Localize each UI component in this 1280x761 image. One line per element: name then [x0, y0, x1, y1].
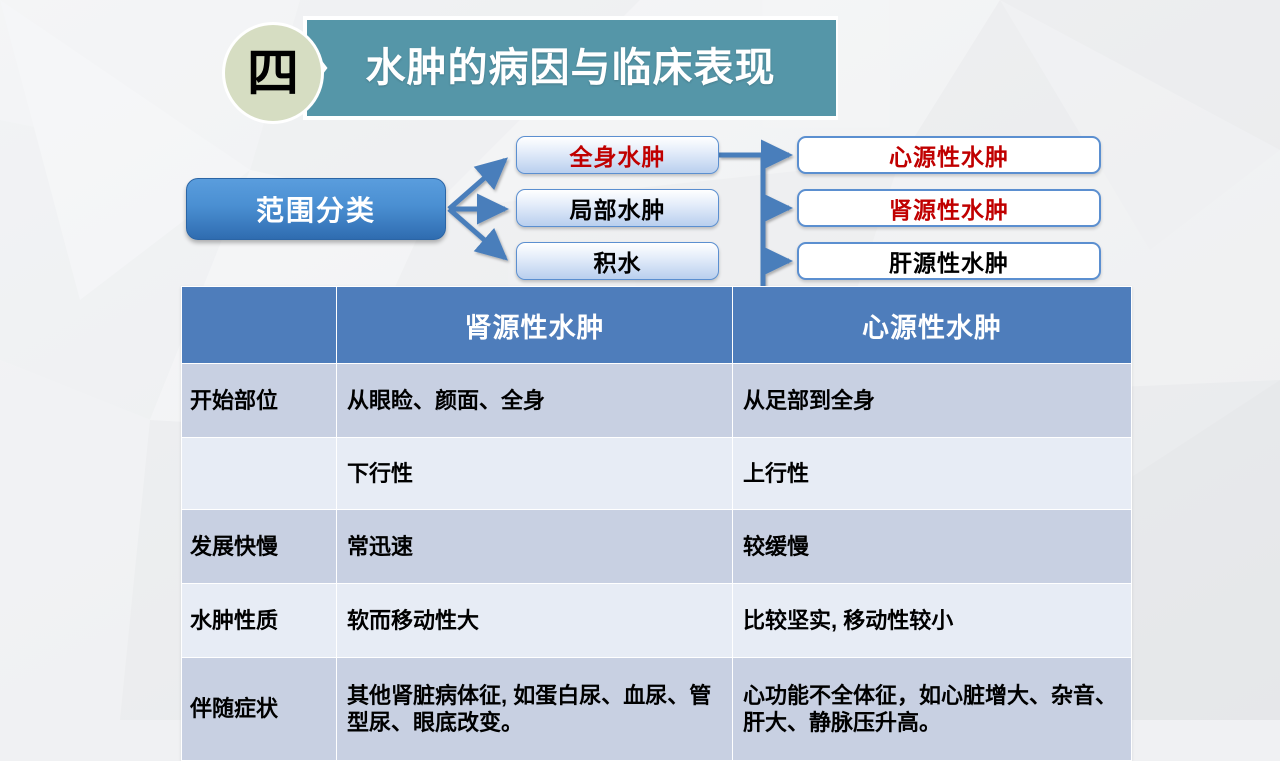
- diagram-root-node[interactable]: 范围分类: [186, 178, 446, 240]
- table-row-label: [182, 438, 337, 510]
- table-cell-renal: 从眼睑、颜面、全身: [337, 364, 733, 438]
- diagram-right-node-0[interactable]: 心源性水肿: [797, 136, 1101, 174]
- table-cell-cardiac: 从足部到全身: [733, 364, 1132, 438]
- diagram-mid-node-0[interactable]: 全身水肿: [516, 136, 719, 174]
- bus-arrows: [719, 155, 789, 290]
- table-cell-cardiac: 上行性: [733, 438, 1132, 510]
- diagram-right-label-2: 肝源性水肿: [889, 244, 1009, 278]
- table-row-label: 开始部位: [182, 364, 337, 438]
- diagram-mid-node-2[interactable]: 积水: [516, 242, 719, 280]
- diagram-mid-label-0: 全身水肿: [570, 138, 666, 172]
- comparison-table: 肾源性水肿 心源性水肿 开始部位 从眼睑、颜面、全身 从足部到全身 下行性 上行…: [181, 286, 1132, 761]
- table-cell-cardiac: 心功能不全体征，如心脏增大、杂音、肝大、静脉压升高。: [733, 658, 1132, 761]
- table-row: 伴随症状 其他肾脏病体征, 如蛋白尿、血尿、管型尿、眼底改变。 心功能不全体征，…: [182, 658, 1132, 761]
- diagram-right-label-0: 心源性水肿: [889, 138, 1009, 172]
- table-row: 下行性 上行性: [182, 438, 1132, 510]
- table-row: 开始部位 从眼睑、颜面、全身 从足部到全身: [182, 364, 1132, 438]
- diagram-right-node-1[interactable]: 肾源性水肿: [797, 189, 1101, 227]
- table-cell-renal: 其他肾脏病体征, 如蛋白尿、血尿、管型尿、眼底改变。: [337, 658, 733, 761]
- table-row: 发展快慢 常迅速 较缓慢: [182, 510, 1132, 584]
- diagram-mid-node-1[interactable]: 局部水肿: [516, 189, 719, 227]
- table-cell-renal: 软而移动性大: [337, 584, 733, 658]
- section-number-badge: 四: [222, 22, 324, 124]
- diagram-right-node-2[interactable]: 肝源性水肿: [797, 242, 1101, 280]
- table-header-cell-2: 心源性水肿: [733, 287, 1132, 364]
- table-header-cell-0: [182, 287, 337, 364]
- page-title: 水肿的病因与临床表现: [303, 16, 838, 120]
- table-cell-renal: 常迅速: [337, 510, 733, 584]
- diagram-right-label-1: 肾源性水肿: [889, 191, 1009, 225]
- table-row-label: 水肿性质: [182, 584, 337, 658]
- table-row-label: 伴随症状: [182, 658, 337, 761]
- table-cell-cardiac: 比较坚实, 移动性较小: [733, 584, 1132, 658]
- section-number-label: 四: [247, 48, 299, 100]
- table-row: 水肿性质 软而移动性大 比较坚实, 移动性较小: [182, 584, 1132, 658]
- header-banner: 水肿的病因与临床表现: [303, 16, 838, 120]
- table-header-cell-1: 肾源性水肿: [337, 287, 733, 364]
- table-row-label: 发展快慢: [182, 510, 337, 584]
- diagram-mid-label-1: 局部水肿: [570, 191, 666, 225]
- table-header-row: 肾源性水肿 心源性水肿: [182, 287, 1132, 364]
- table-cell-cardiac: 较缓慢: [733, 510, 1132, 584]
- fanout-arrows: [449, 160, 505, 258]
- diagram-root-label: 范围分类: [256, 189, 376, 229]
- table-cell-renal: 下行性: [337, 438, 733, 510]
- diagram-mid-label-2: 积水: [594, 244, 642, 278]
